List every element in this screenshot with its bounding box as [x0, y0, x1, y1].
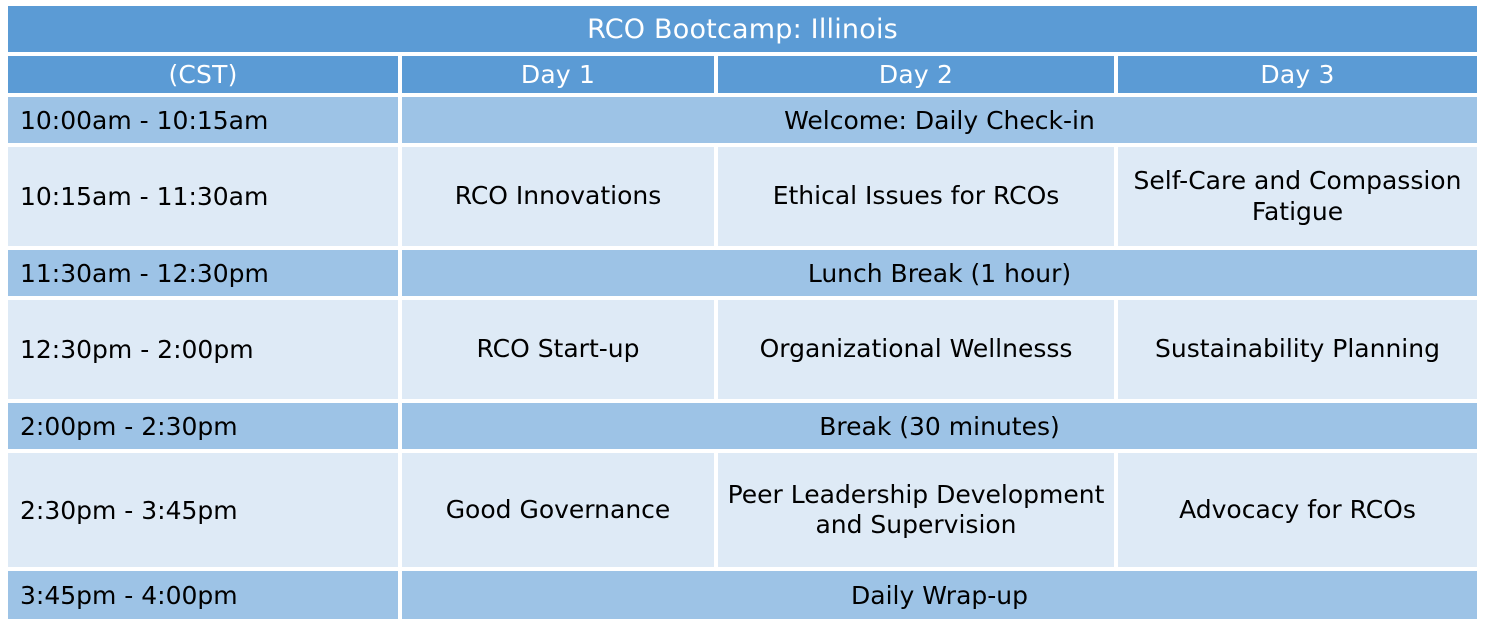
column-header-row: (CST) Day 1 Day 2 Day 3: [8, 56, 1477, 97]
table-row: 2:00pm - 2:30pm Break (30 minutes): [8, 403, 1477, 453]
time-slot: 12:30pm - 2:00pm: [8, 300, 402, 403]
table-row: 2:30pm - 3:45pm Good Governance Peer Lea…: [8, 453, 1477, 571]
time-slot: 3:45pm - 4:00pm: [8, 571, 402, 623]
session-day3: Sustainability Planning: [1118, 300, 1477, 403]
session-day1: RCO Start-up: [402, 300, 718, 403]
table-row: 3:45pm - 4:00pm Daily Wrap-up: [8, 571, 1477, 623]
session-merged: Daily Wrap-up: [402, 571, 1477, 623]
page-title: RCO Bootcamp: Illinois: [8, 6, 1477, 56]
table-row: 10:15am - 11:30am RCO Innovations Ethica…: [8, 147, 1477, 250]
bootcamp-schedule-table: RCO Bootcamp: Illinois (CST) Day 1 Day 2…: [8, 6, 1477, 623]
time-slot: 11:30am - 12:30pm: [8, 250, 402, 300]
session-merged: Lunch Break (1 hour): [402, 250, 1477, 300]
session-day1: RCO Innovations: [402, 147, 718, 250]
column-header-day3: Day 3: [1118, 56, 1477, 97]
column-header-day1: Day 1: [402, 56, 718, 97]
column-header-time: (CST): [8, 56, 402, 97]
session-day2: Peer Leadership Development and Supervis…: [718, 453, 1118, 571]
session-day2: Organizational Wellnesss: [718, 300, 1118, 403]
time-slot: 10:00am - 10:15am: [8, 97, 402, 147]
session-day2: Ethical Issues for RCOs: [718, 147, 1118, 250]
column-header-day2: Day 2: [718, 56, 1118, 97]
session-merged: Welcome: Daily Check-in: [402, 97, 1477, 147]
table-row: 11:30am - 12:30pm Lunch Break (1 hour): [8, 250, 1477, 300]
time-slot: 10:15am - 11:30am: [8, 147, 402, 250]
session-day3: Self-Care and Compassion Fatigue: [1118, 147, 1477, 250]
schedule-container: RCO Bootcamp: Illinois (CST) Day 1 Day 2…: [8, 6, 1477, 634]
session-merged: Break (30 minutes): [402, 403, 1477, 453]
session-day3: Advocacy for RCOs: [1118, 453, 1477, 571]
time-slot: 2:30pm - 3:45pm: [8, 453, 402, 571]
table-row: 10:00am - 10:15am Welcome: Daily Check-i…: [8, 97, 1477, 147]
time-slot: 2:00pm - 2:30pm: [8, 403, 402, 453]
session-day1: Good Governance: [402, 453, 718, 571]
title-row: RCO Bootcamp: Illinois: [8, 6, 1477, 56]
table-row: 12:30pm - 2:00pm RCO Start-up Organizati…: [8, 300, 1477, 403]
